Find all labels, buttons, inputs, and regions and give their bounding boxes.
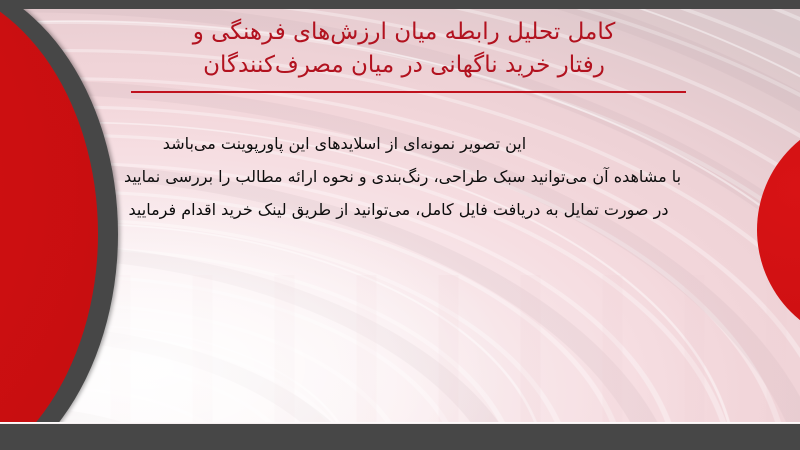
slide-title-line-2: رفتار خرید ناگهانی در میان مصرف‌کنندگان — [104, 49, 704, 82]
slide-title-underline — [131, 91, 686, 93]
slide-body-line-3: در صورت تمایل به دریافت فایل کامل، می‌تو… — [45, 193, 770, 226]
slide-body-line-2: با مشاهده آن می‌توانید سبک طراحی، رنگ‌بن… — [45, 160, 770, 193]
slide-title-line-1: کامل تحلیل رابطه میان ارزش‌های فرهنگی و — [193, 19, 616, 45]
slide-body-text: این تصویر نمونه‌ای از اسلایدهای این پاور… — [45, 127, 770, 226]
slide-body-line-1: این تصویر نمونه‌ای از اسلایدهای این پاور… — [45, 127, 770, 160]
slide-content-plate: کامل تحلیل رابطه میان ارزش‌های فرهنگی و … — [0, 8, 800, 425]
slide-frame-top — [0, 0, 800, 9]
slide-frame-bottom — [0, 424, 800, 450]
presentation-slide: کامل تحلیل رابطه میان ارزش‌های فرهنگی و … — [0, 0, 800, 450]
slide-title: کامل تحلیل رابطه میان ارزش‌های فرهنگی و … — [104, 16, 704, 82]
